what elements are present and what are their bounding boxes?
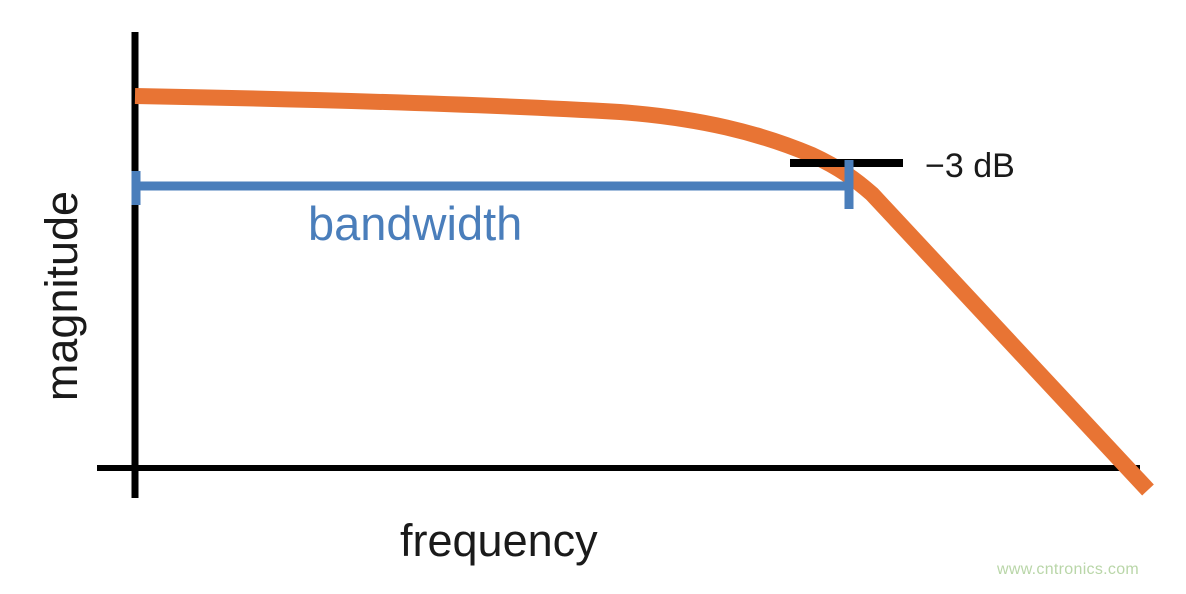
y-axis-label: magnitude <box>36 146 88 446</box>
minus-3db-label: −3 dB <box>925 147 1015 186</box>
x-axis-label: frequency <box>400 515 598 567</box>
bode-plot-figure: magnitude frequency bandwidth −3 dB www.… <box>0 0 1186 594</box>
bandwidth-label: bandwidth <box>308 196 522 251</box>
plot-canvas <box>0 0 1186 594</box>
watermark-text: www.cntronics.com <box>997 561 1139 579</box>
